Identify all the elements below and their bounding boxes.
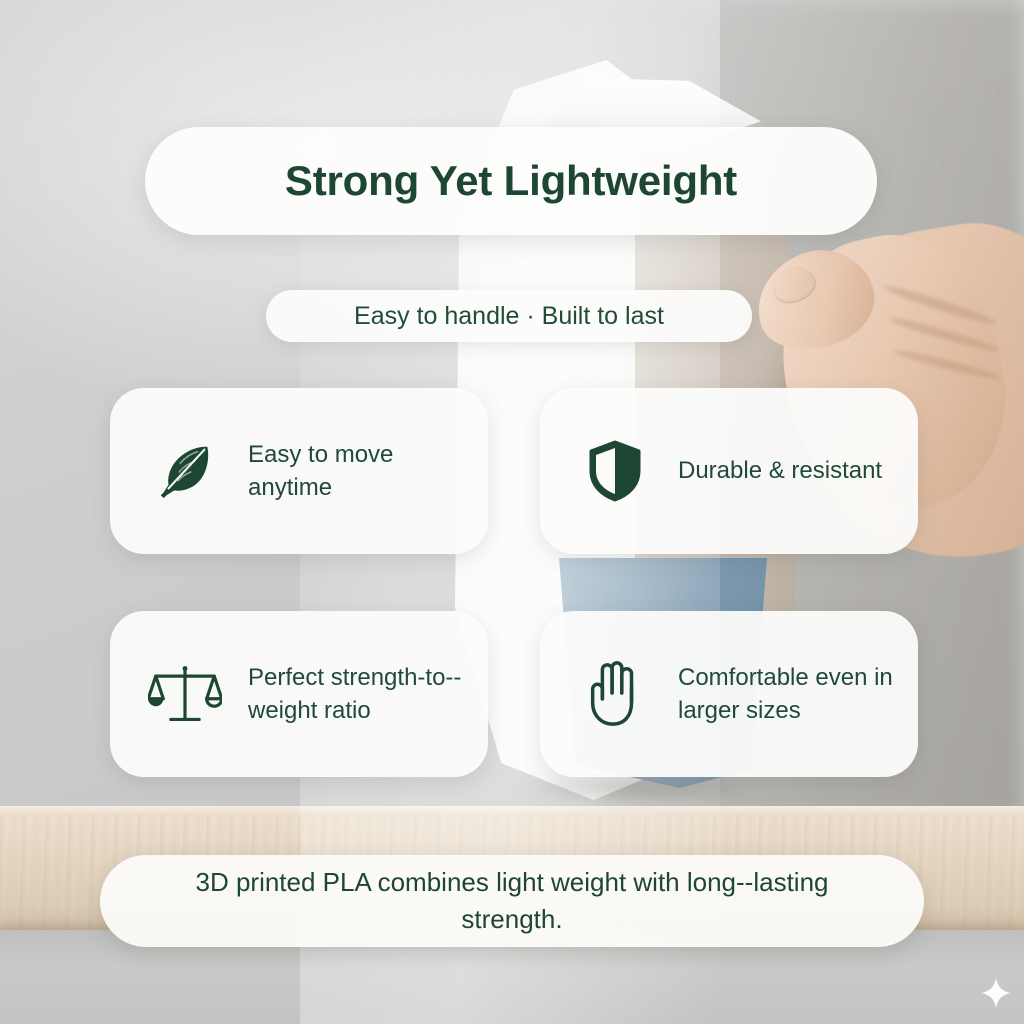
page-title: Strong Yet Lightweight [285,157,737,205]
shield-icon [578,434,652,508]
footer-caption-pill: 3D printed PLA combines light weight wit… [100,855,924,947]
poster-canvas: Strong Yet Lightweight Easy to handle · … [0,0,1024,1024]
feature-label: Easy to move anytime [248,438,466,504]
title-pill: Strong Yet Lightweight [145,127,877,235]
feature-card-comfortable: Comfortable even in larger sizes [540,611,918,777]
open-hand-icon [578,657,652,731]
subtitle-pill: Easy to handle · Built to last [266,290,752,342]
balance-scale-icon [148,657,222,731]
footer-caption: 3D printed PLA combines light weight wit… [100,864,924,938]
feature-card-grid: Easy to move anytime Durable & resistant [110,388,918,777]
feature-card-durable: Durable & resistant [540,388,918,554]
feature-card-easy-to-move: Easy to move anytime [110,388,488,554]
sparkle-icon [981,978,1011,1008]
feature-label: Perfect strength-to--weight ratio [248,661,466,727]
feature-card-strength-to-weight: Perfect strength-to--weight ratio [110,611,488,777]
feature-label: Comfortable even in larger sizes [678,661,896,727]
page-subtitle: Easy to handle · Built to last [354,302,664,331]
feature-label: Durable & resistant [678,454,882,487]
feather-icon [148,434,222,508]
